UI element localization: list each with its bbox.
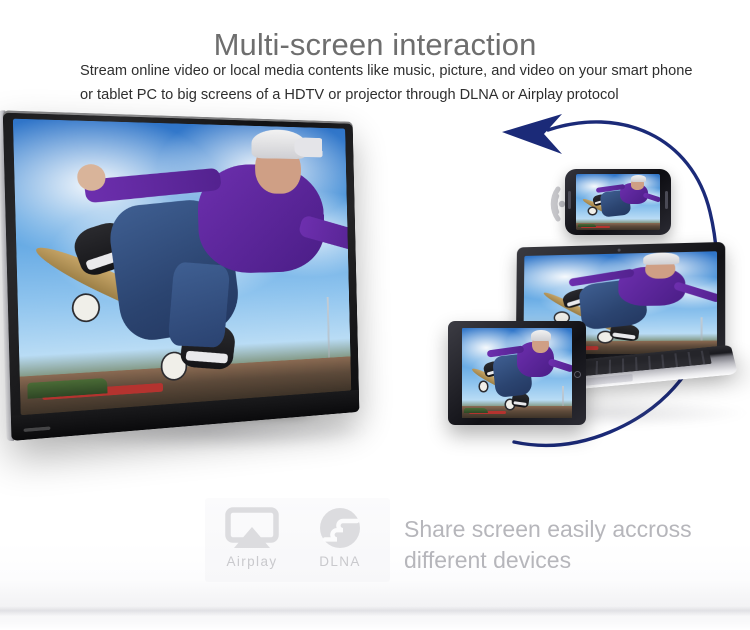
promo-banner: Multi-screen interaction Stream online v… [0, 0, 750, 630]
tablet-device [448, 321, 586, 425]
tagline-line-1: Share screen easily accross [404, 514, 724, 545]
wifi-broadcast-icon [516, 176, 572, 232]
dlna-label: DLNA [301, 554, 379, 569]
smartphone-device [565, 169, 671, 235]
protocol-badges: Airplay DLNA [205, 498, 390, 582]
dlna-icon [301, 506, 379, 552]
tv-bezel [3, 110, 360, 441]
protocol-badge-airplay[interactable]: Airplay [213, 506, 291, 569]
tablet-skater [462, 328, 572, 418]
description-text: Stream online video or local media conte… [80, 59, 695, 108]
hdtv-device [3, 110, 360, 441]
laptop-webcam-icon [617, 248, 620, 251]
tv-screen [13, 119, 351, 416]
airplay-label: Airplay [213, 554, 291, 569]
tablet-video-frame [462, 328, 572, 418]
phone-video-frame [576, 174, 660, 230]
tv-video-frame [13, 119, 351, 416]
floor-divider [0, 606, 750, 616]
phone-skater [576, 174, 660, 230]
protocol-badge-dlna[interactable]: DLNA [301, 506, 379, 569]
tagline-line-2: different devices [404, 545, 724, 576]
airplay-icon [213, 506, 291, 552]
phone-screen [576, 174, 660, 230]
tagline: Share screen easily accross different de… [404, 514, 724, 576]
tv-skater [13, 119, 351, 416]
tablet-screen [462, 328, 572, 418]
